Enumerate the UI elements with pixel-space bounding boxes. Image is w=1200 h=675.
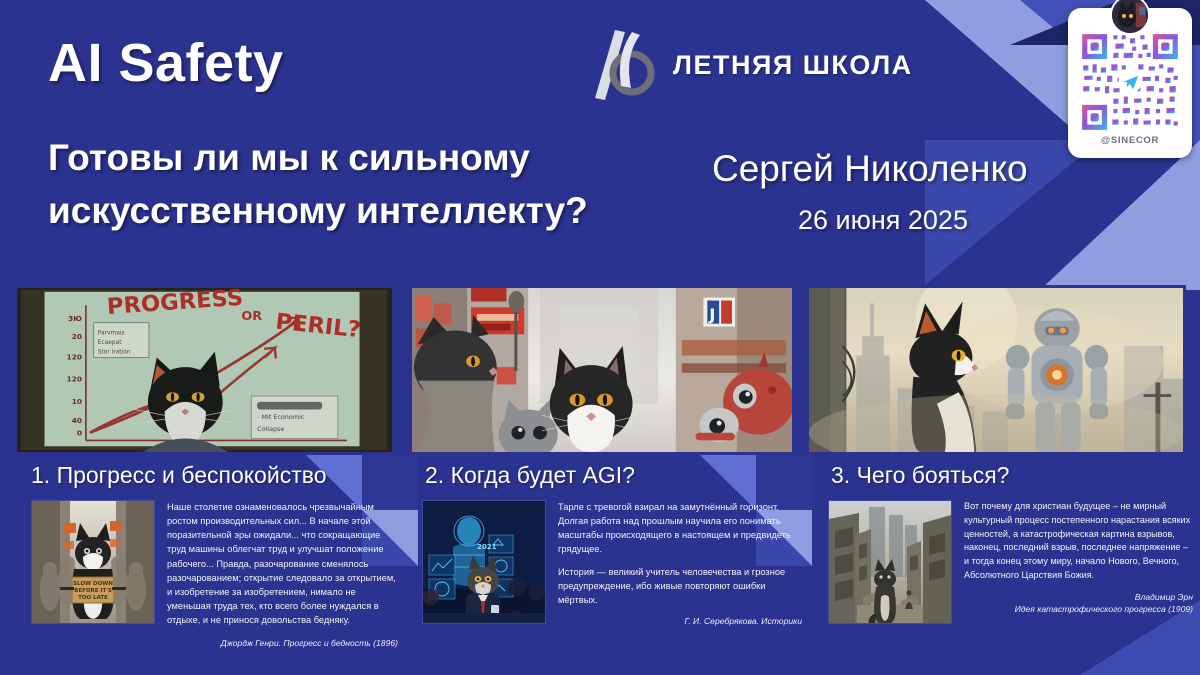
section-1-quote: Наше столетие ознаменовалось чрезвычайны… xyxy=(167,500,398,650)
photo-cat-and-robot-skyline xyxy=(806,285,1186,455)
section-2-title: 2. Когда будет AGI? xyxy=(425,462,802,489)
svg-text:SLOW DOWN: SLOW DOWN xyxy=(73,581,113,587)
section-1-title: 1. Прогресс и беспокойство xyxy=(31,462,398,489)
section-2-paragraph: История — великий учитель человечества и… xyxy=(558,565,802,607)
section-3-thumbnail xyxy=(828,500,952,624)
logo-mark-icon xyxy=(585,26,663,104)
event-date: 26 июня 2025 xyxy=(798,205,968,236)
section-1-source: Джордж Генри. Прогресс и бедность (1896) xyxy=(167,637,398,649)
svg-text:J: J xyxy=(708,305,715,324)
speaker-name: Сергей Николенко xyxy=(712,148,1028,190)
section-3: 3. Чего бояться? xyxy=(818,462,1193,675)
svg-text:TOO LATE: TOO LATE xyxy=(78,595,108,601)
telegram-qr-card[interactable]: @SINECOR xyxy=(1068,8,1192,158)
telegram-handle: @SINECOR xyxy=(1101,135,1159,146)
page-title: AI Safety xyxy=(48,32,284,94)
photo-city-street-cats-robots: J xyxy=(409,285,795,455)
photo-band: 3Ю20 120120 1040 0 ParvmaisEcaepatStor i… xyxy=(0,285,1200,455)
decor-triangle-right-lower-light xyxy=(1040,140,1200,290)
section-1-paragraph: Наше столетие ознаменовалось чрезвычайны… xyxy=(167,500,398,627)
page-subtitle: Готовы ли мы к сильному искусственному и… xyxy=(48,132,728,237)
section-3-title: 3. Чего бояться? xyxy=(831,462,1193,489)
summer-school-logo: ЛЕТНЯЯ ШКОЛА xyxy=(585,26,913,104)
svg-text:2021: 2021 xyxy=(477,543,497,551)
decor-triangle-top-right-light xyxy=(925,0,1085,140)
section-2-source: Г. И. Серебрякова. Историки xyxy=(558,615,802,627)
section-1-thumbnail: SLOW DOWNBEFORE IT'STOO LATE xyxy=(31,500,155,624)
section-3-source-author: Владимир Эрн xyxy=(964,591,1193,603)
section-3-paragraph: Вот почему для христиан будущее – не мир… xyxy=(964,500,1193,583)
presentation-slide: AI Safety Готовы ли мы к сильному искусс… xyxy=(0,0,1200,675)
section-2-quote: Тарле с тревогой взирал на замутнённый г… xyxy=(558,500,802,627)
logo-text: ЛЕТНЯЯ ШКОЛА xyxy=(673,50,913,81)
qr-code-icon xyxy=(1078,30,1182,134)
photo-progress-or-peril: 3Ю20 120120 1040 0 ParvmaisEcaepatStor i… xyxy=(14,285,395,455)
section-2-thumbnail: 2021 xyxy=(422,500,546,624)
svg-text:BEFORE IT'S: BEFORE IT'S xyxy=(74,588,112,594)
section-3-quote: Вот почему для христиан будущее – не мир… xyxy=(964,500,1193,624)
section-1: 1. Прогресс и беспокойство xyxy=(18,462,398,675)
section-2-paragraph: Тарле с тревогой взирал на замутнённый г… xyxy=(558,500,802,557)
section-2: 2. Когда будет AGI? xyxy=(412,462,802,675)
section-3-source: Идея катастрофического прогресса (1909) xyxy=(964,603,1193,615)
